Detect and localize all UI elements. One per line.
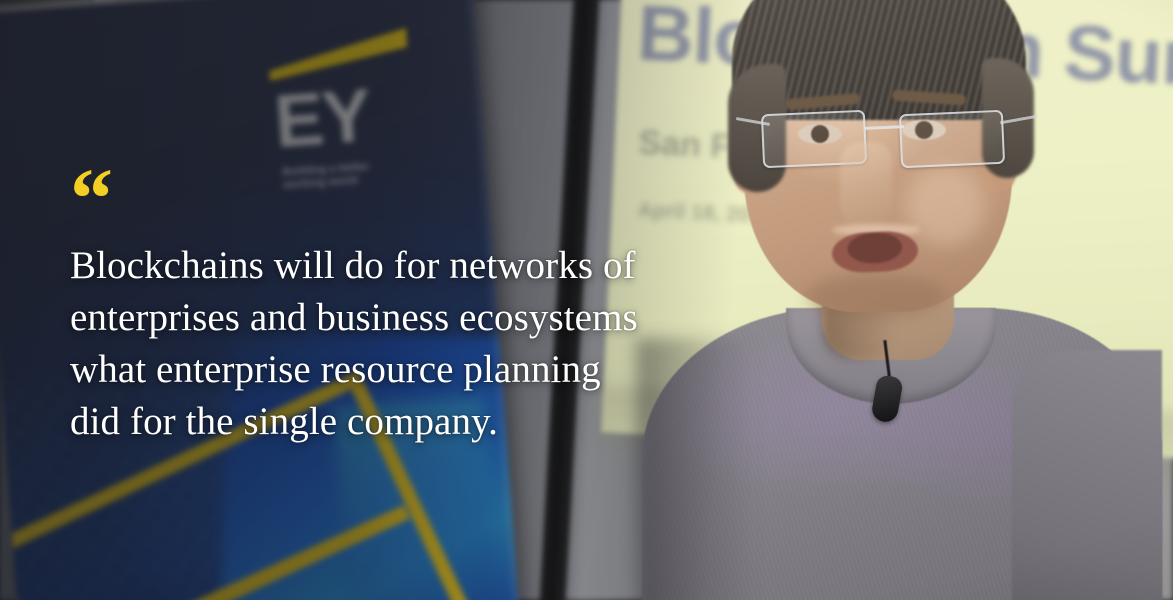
ey-wordmark: EY xyxy=(272,81,371,156)
quote-line: Blockchains will do for networks of xyxy=(70,240,710,292)
quote-text: Blockchains will do for networks of ente… xyxy=(70,240,710,448)
presenter-nose xyxy=(840,142,892,230)
quote-image-canvas: EY Building a better working world EY Bl… xyxy=(0,0,1173,600)
quote-line: did for the single company. xyxy=(70,396,710,448)
glasses-bridge xyxy=(864,125,904,130)
presenter xyxy=(636,0,1156,600)
quote-line: what enterprise resource planning xyxy=(70,344,710,396)
open-quote-icon: “ xyxy=(70,176,710,224)
ey-beam-icon xyxy=(267,28,409,82)
chin-shadow xyxy=(806,274,946,320)
quote-line: enterprises and business ecosystems xyxy=(70,292,710,344)
presenter-sleeve xyxy=(1012,350,1162,600)
glasses-lens-right xyxy=(899,110,1005,168)
quote-block: “ Blockchains will do for networks of en… xyxy=(70,176,710,448)
